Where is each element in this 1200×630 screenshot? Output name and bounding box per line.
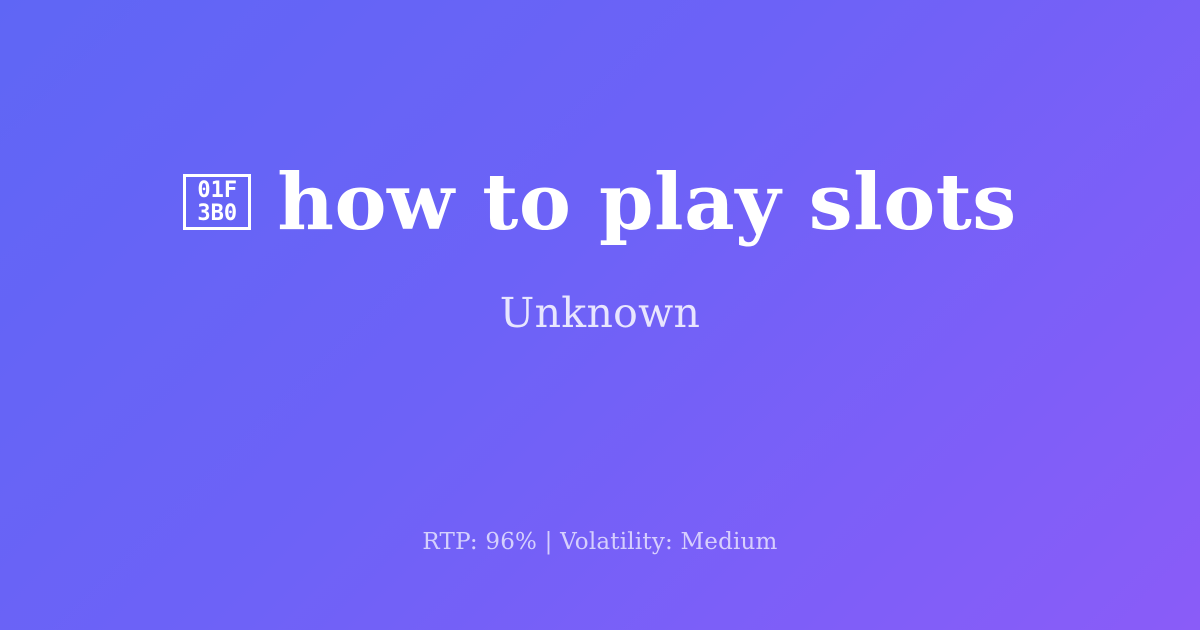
page-subtitle: Unknown — [500, 289, 701, 338]
og-share-card: 01F 3B0 how to play slots Unknown RTP: 9… — [0, 0, 1200, 630]
tofu-codepoint-line-2: 3B0 — [197, 202, 237, 225]
page-title: how to play slots — [277, 162, 1016, 243]
title-row: 01F 3B0 how to play slots — [123, 162, 1076, 243]
slot-machine-emoji-icon: 01F 3B0 — [183, 174, 251, 230]
footer-block: RTP: 96% | Volatility: Medium — [0, 528, 1200, 558]
hero-block: 01F 3B0 how to play slots Unknown — [0, 0, 1200, 500]
tofu-codepoint-line-1: 01F — [197, 179, 237, 202]
game-meta-line: RTP: 96% | Volatility: Medium — [422, 528, 777, 558]
